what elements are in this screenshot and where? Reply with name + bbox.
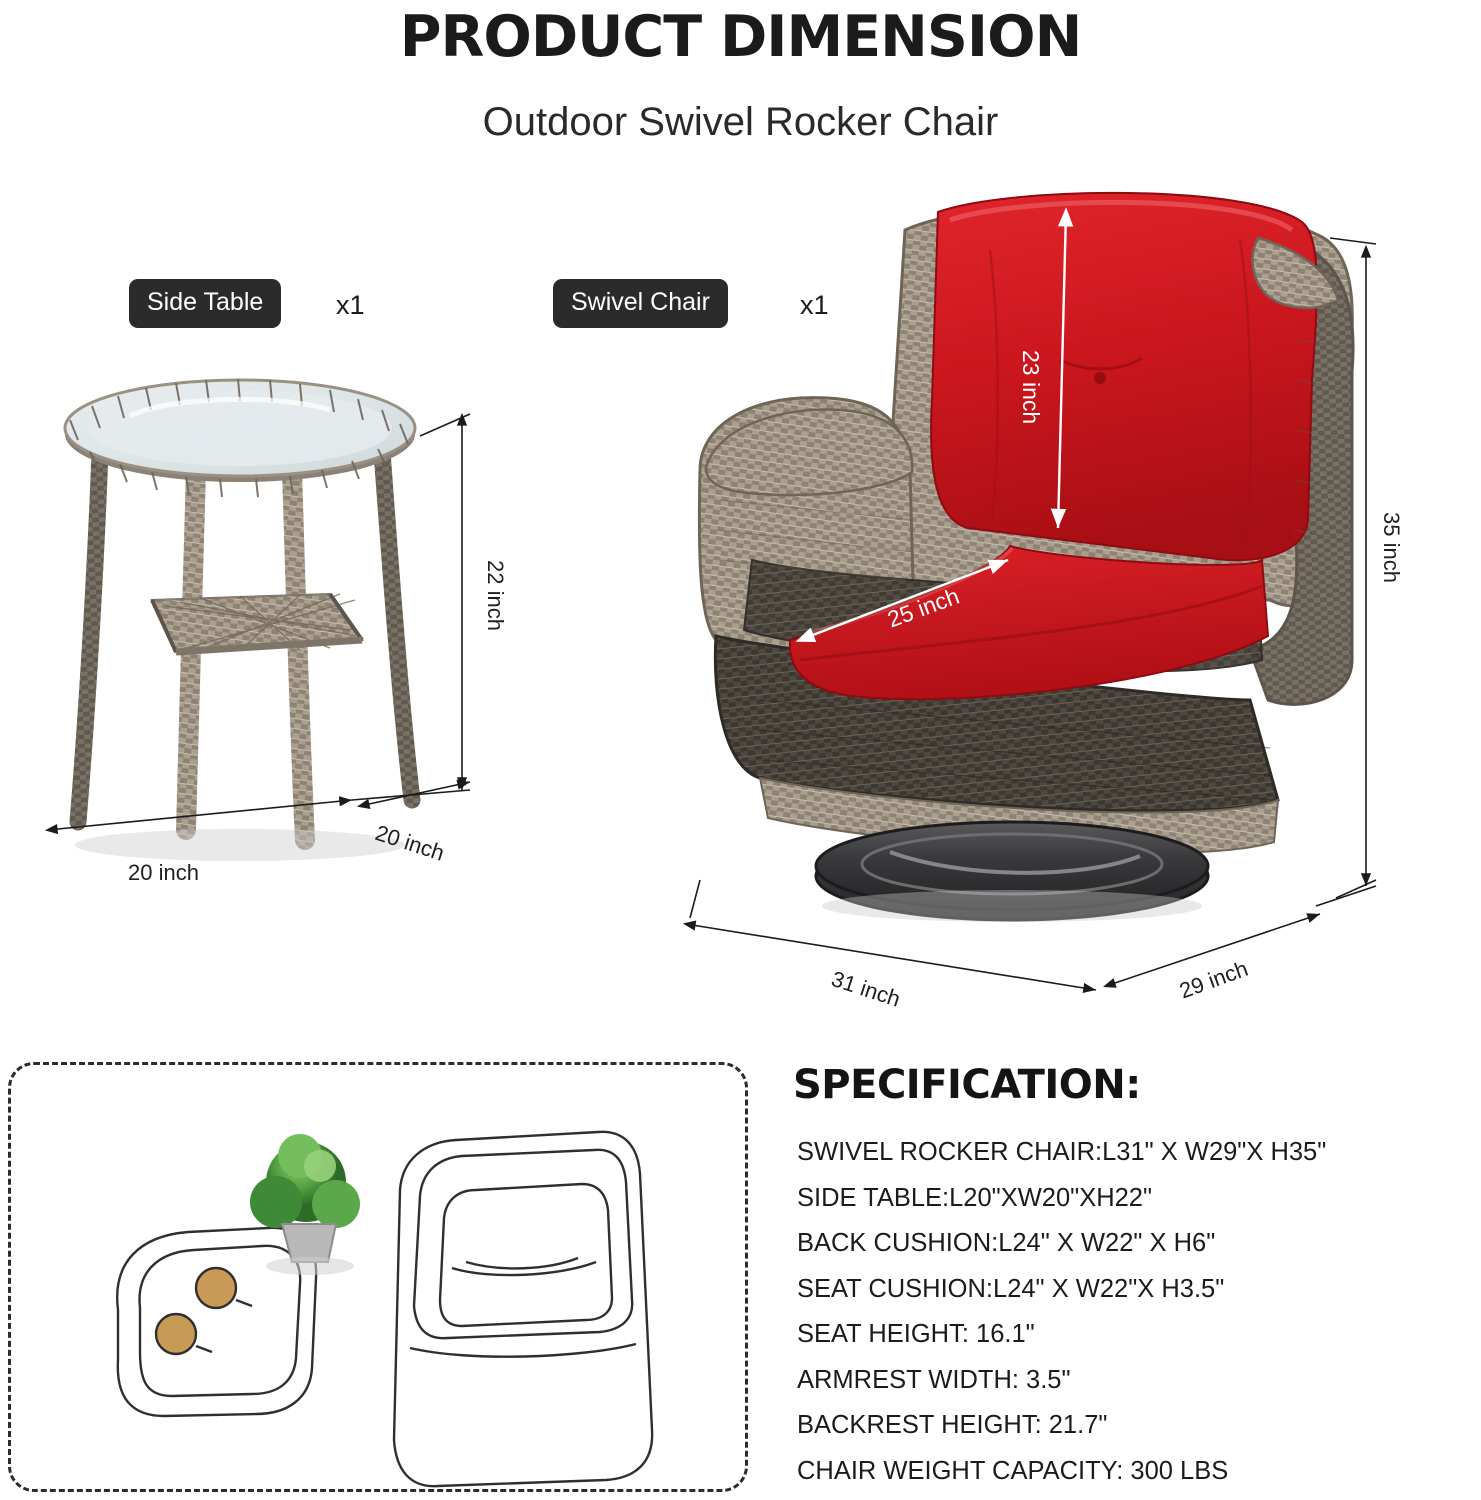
spec-line: SIDE TABLE:L20"XW20"XH22" xyxy=(797,1176,1457,1222)
side-table-dimension-lines xyxy=(48,414,470,830)
table-width-label: 20 inch xyxy=(128,860,199,886)
label-side-table: Side Table xyxy=(129,279,281,328)
swivel-chair-illustration xyxy=(699,193,1353,922)
chair-seat-depth-label: 25 inch xyxy=(884,583,963,634)
lifestyle-scene-frame xyxy=(8,1062,748,1492)
qty-side-table: x1 xyxy=(336,290,365,321)
side-table-illustration xyxy=(65,379,415,861)
chair-width-label: 31 inch xyxy=(828,966,904,1013)
label-swivel-chair: Swivel Chair xyxy=(553,279,728,328)
spec-line: BACK CUSHION:L24" X W22" X H6" xyxy=(797,1221,1457,1267)
page-subtitle: Outdoor Swivel Rocker Chair xyxy=(0,100,1481,145)
chair-back-cushion-label: 23 inch xyxy=(1017,350,1044,424)
chair-height-label: 35 inch xyxy=(1378,512,1404,583)
spec-line: SWIVEL ROCKER CHAIR:L31" X W29"X H35" xyxy=(797,1130,1457,1176)
table-height-label: 22 inch xyxy=(482,560,508,631)
cushion-dimension-arrows xyxy=(800,212,1066,640)
chair-depth-label: 29 inch xyxy=(1176,956,1252,1005)
specification-list: SWIVEL ROCKER CHAIR:L31" X W29"X H35" SI… xyxy=(797,1130,1457,1494)
table-depth-label: 20 inch xyxy=(372,820,448,867)
product-dimension-page: PRODUCT DIMENSION Outdoor Swivel Rocker … xyxy=(0,0,1481,1500)
spec-line: SEAT HEIGHT: 16.1" xyxy=(797,1312,1457,1358)
spec-line: SEAT CUSHION:L24" X W22"X H3.5" xyxy=(797,1267,1457,1313)
spec-line: BACKREST HEIGHT: 21.7" xyxy=(797,1403,1457,1449)
page-title: PRODUCT DIMENSION xyxy=(0,4,1481,70)
spec-line: ARMREST WIDTH: 3.5" xyxy=(797,1358,1457,1404)
specification-title: SPECIFICATION: xyxy=(793,1062,1141,1108)
spec-line: CHAIR WEIGHT CAPACITY: 300 LBS xyxy=(797,1449,1457,1495)
qty-swivel-chair: x1 xyxy=(800,290,829,321)
